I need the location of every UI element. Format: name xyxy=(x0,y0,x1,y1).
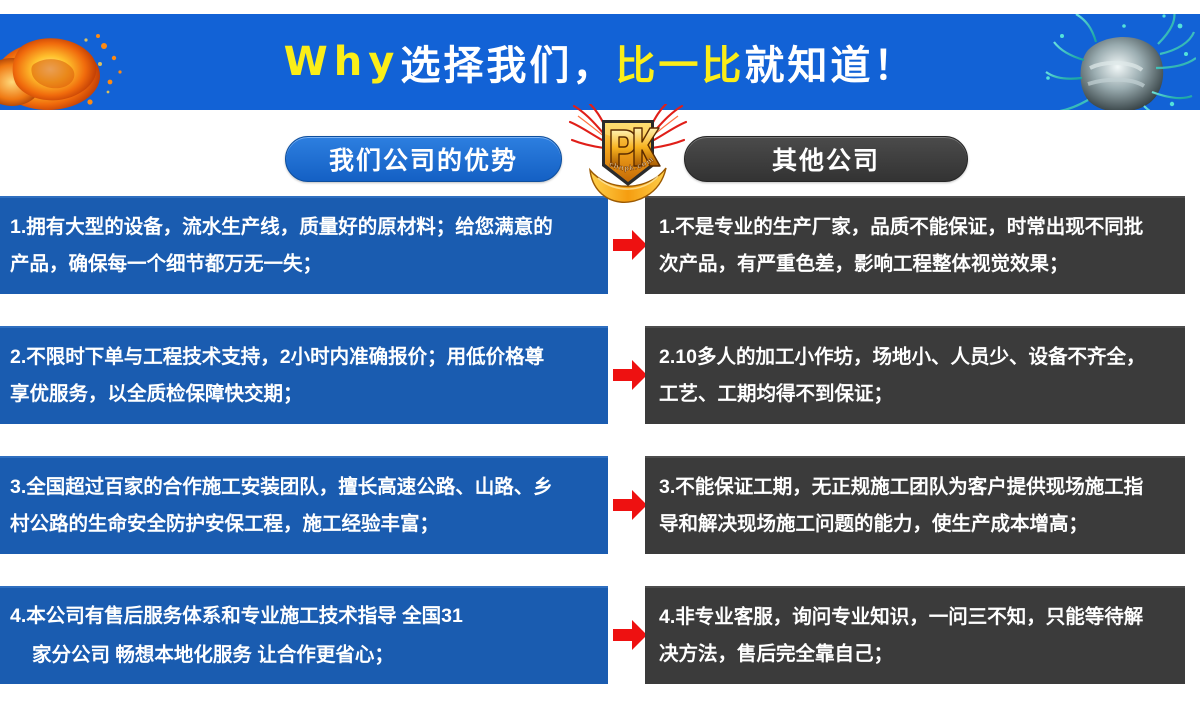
advantage-line: 享优服务，以全质检保障快交期； xyxy=(10,376,596,413)
comparison-row: 1.拥有大型的设备，流水生产线，质量好的原材料；给您满意的 产品，确保每一个细节… xyxy=(0,196,1200,326)
advantage-line: 3.全国超过百家的合作施工安装团队，擅长高速公路、山路、乡 xyxy=(10,469,596,506)
our-advantage-label: 我们公司的优势 xyxy=(329,141,518,177)
comparison-row: 2.不限时下单与工程技术支持，2小时内准确报价；用低价格尊 享优服务，以全质检保… xyxy=(0,326,1200,456)
pk-logo-icon: chnpk.com xyxy=(568,104,688,204)
drawback-line: 工艺、工期均得不到保证； xyxy=(659,376,1171,413)
drawback-box: 1.不是专业的生产厂家，品质不能保证，时常出现不同批 次产品，有严重色差，影响工… xyxy=(645,196,1185,294)
advantage-box: 2.不限时下单与工程技术支持，2小时内准确报价；用低价格尊 享优服务，以全质检保… xyxy=(0,326,608,424)
drawback-line: 决方法，售后完全靠自己； xyxy=(659,636,1171,673)
drawback-line: 2.10多人的加工小作坊，场地小、人员少、设备不齐全， xyxy=(659,339,1171,376)
drawback-box: 4.非专业客服，询问专业知识，一问三不知，只能等待解 决方法，售后完全靠自己； xyxy=(645,586,1185,684)
advantage-line: 2.不限时下单与工程技术支持，2小时内准确报价；用低价格尊 xyxy=(10,339,596,376)
drawback-box: 3.不能保证工期，无正规施工团队为客户提供现场施工指 导和解决现场施工问题的能力… xyxy=(645,456,1185,554)
advantage-line: 4.本公司有售后服务体系和专业施工技术指导 全国31 xyxy=(10,597,596,636)
advantage-line: 1.拥有大型的设备，流水生产线，质量好的原材料；给您满意的 xyxy=(10,209,596,246)
our-advantage-pill[interactable]: 我们公司的优势 xyxy=(285,136,562,182)
advantage-box: 4.本公司有售后服务体系和专业施工技术指导 全国31 家分公司 畅想本地化服务 … xyxy=(0,586,608,684)
drawback-box: 2.10多人的加工小作坊，场地小、人员少、设备不齐全， 工艺、工期均得不到保证； xyxy=(645,326,1185,424)
drawback-line: 1.不是专业的生产厂家，品质不能保证，时常出现不同批 xyxy=(659,209,1171,246)
banner-title-part-3: ， xyxy=(572,33,615,91)
red-right-arrow-icon xyxy=(612,616,648,654)
comparison-row: 4.本公司有售后服务体系和专业施工技术指导 全国31 家分公司 畅想本地化服务 … xyxy=(0,586,1200,716)
advantage-line: 产品，确保每一个细节都万无一失； xyxy=(10,246,596,283)
advantage-box: 1.拥有大型的设备，流水生产线，质量好的原材料；给您满意的 产品，确保每一个细节… xyxy=(0,196,608,294)
other-company-label: 其他公司 xyxy=(772,141,880,177)
drawback-line: 次产品，有严重色差，影响工程整体视觉效果； xyxy=(659,246,1171,283)
banner-title-part-2: 选择我们 xyxy=(400,33,572,91)
header-banner: Why选择我们，比一比就知道！ xyxy=(0,14,1200,110)
red-right-arrow-icon xyxy=(612,356,648,394)
drawback-line: 4.非专业客服，询问专业知识，一问三不知，只能等待解 xyxy=(659,599,1171,636)
advantage-line: 家分公司 畅想本地化服务 让合作更省心； xyxy=(10,636,596,675)
banner-title-part-1: Why xyxy=(284,39,401,85)
advantage-line: 村公路的生命安全防护安保工程，施工经验丰富； xyxy=(10,506,596,543)
advantage-box: 3.全国超过百家的合作施工安装团队，擅长高速公路、山路、乡 村公路的生命安全防护… xyxy=(0,456,608,554)
other-company-pill[interactable]: 其他公司 xyxy=(684,136,968,182)
comparison-row: 3.全国超过百家的合作施工安装团队，擅长高速公路、山路、乡 村公路的生命安全防护… xyxy=(0,456,1200,586)
comparison-rows: 1.拥有大型的设备，流水生产线，质量好的原材料；给您满意的 产品，确保每一个细节… xyxy=(0,196,1200,716)
page-root: Why选择我们，比一比就知道！ xyxy=(0,0,1200,724)
banner-title-part-4: 比一比 xyxy=(615,33,744,91)
drawback-line: 导和解决现场施工问题的能力，使生产成本增高； xyxy=(659,506,1171,543)
drawback-line: 3.不能保证工期，无正规施工团队为客户提供现场施工指 xyxy=(659,469,1171,506)
banner-title: Why选择我们，比一比就知道！ xyxy=(0,14,1200,110)
banner-title-part-5: 就知道！ xyxy=(744,33,916,91)
red-right-arrow-icon xyxy=(612,226,648,264)
red-right-arrow-icon xyxy=(612,486,648,524)
